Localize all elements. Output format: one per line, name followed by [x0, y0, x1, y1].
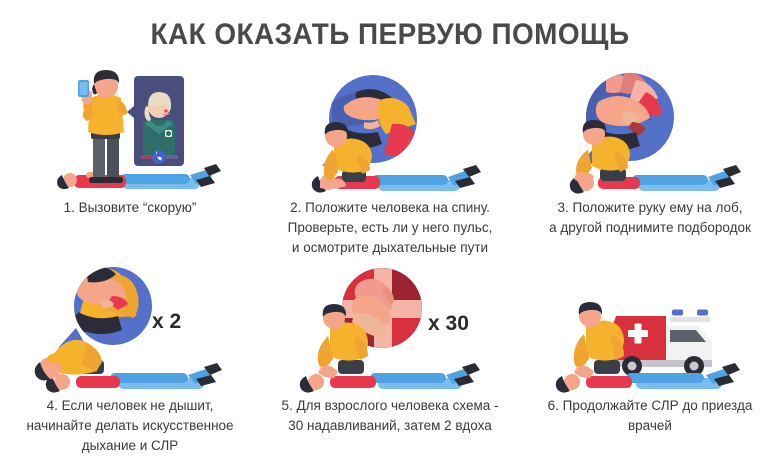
caption-line: 2. Положите человека на спину.: [260, 198, 520, 218]
step-3: 3. Положите руку ему на лоб, а другой по…: [520, 62, 780, 238]
step-4-artwork: x 2: [0, 260, 260, 396]
check-pulse-illustration: [260, 62, 520, 198]
step-1-artwork: [0, 62, 260, 198]
step-5: x 30 x 30 5. Для взрослого человека схем…: [260, 260, 520, 436]
step-2-artwork: [260, 62, 520, 198]
step-3-artwork: [520, 62, 780, 198]
caption-line: 3. Положите руку ему на лоб,: [520, 198, 780, 218]
caption-line: а другой поднимите подбородок: [520, 218, 780, 238]
rescue-breath-inset: [58, 267, 152, 348]
first-aid-infographic: КАК ОКАЗАТЬ ПЕРВУЮ ПОМОЩЬ: [0, 0, 780, 470]
step-1-caption: 1. Вызовите “скорую”: [0, 198, 260, 218]
step-2-caption: 2. Положите человека на спину. Проверьте…: [260, 198, 520, 258]
rescuer-figure: [35, 340, 104, 381]
phone-screen-panel: [127, 76, 184, 166]
step-1: 1. Вызовите “скорую”: [0, 62, 260, 218]
caption-line: 6. Продолжайте СЛР до приезда: [520, 396, 780, 416]
rescuer-figure: [574, 302, 624, 378]
caption-line: 4. Если человек не дышит,: [0, 396, 260, 416]
step-6: 6. Продолжайте СЛР до приезда врачей: [520, 260, 780, 436]
caption-line: и осмотрите дыхательные пути: [260, 238, 520, 258]
step-6-caption: 6. Продолжайте СЛР до приезда врачей: [520, 396, 780, 436]
multiplier-x30-text: x 30: [428, 312, 469, 335]
page-title: КАК ОКАЗАТЬ ПЕРВУЮ ПОМОЩЬ: [27, 18, 752, 52]
victim-figure: [570, 165, 741, 194]
caption-line: 30 надавливаний, затем 2 вдоха: [260, 416, 520, 436]
step-5-caption: 5. Для взрослого человека схема - 30 над…: [260, 396, 520, 436]
call-ambulance-illustration: [0, 62, 260, 198]
step-6-artwork: [520, 260, 780, 396]
caption-line: 5. Для взрослого человека схема -: [260, 396, 520, 416]
steps-grid: 1. Вызовите “скорую”: [0, 62, 780, 462]
step-5-artwork: x 30: [260, 260, 520, 396]
continue-cpr-ambulance-illustration: [520, 260, 780, 396]
caption-line: Проверьте, есть ли у него пульс,: [260, 218, 520, 238]
chest-compressions-illustration: x 30 x 30: [260, 260, 520, 396]
open-airway-illustration: [520, 62, 780, 198]
caption-line: врачей: [520, 416, 780, 436]
multiplier-x2-text: x 2: [152, 310, 181, 333]
caption-line: дыхание и СЛР: [0, 436, 260, 456]
step-2: 2. Положите человека на спину. Проверьте…: [260, 62, 520, 258]
caption-line: 1. Вызовите “скорую”: [0, 198, 260, 218]
rescue-breathing-illustration: x 2 x 2: [0, 260, 260, 396]
step-4: x 2 x 2 4. Если человек не дышит, начина…: [0, 260, 260, 456]
caller-figure: [78, 70, 127, 183]
step-4-caption: 4. Если человек не дышит, начинайте дела…: [0, 396, 260, 456]
caption-line: начинайте делать искусственное: [0, 416, 260, 436]
step-3-caption: 3. Положите руку ему на лоб, а другой по…: [520, 198, 780, 238]
